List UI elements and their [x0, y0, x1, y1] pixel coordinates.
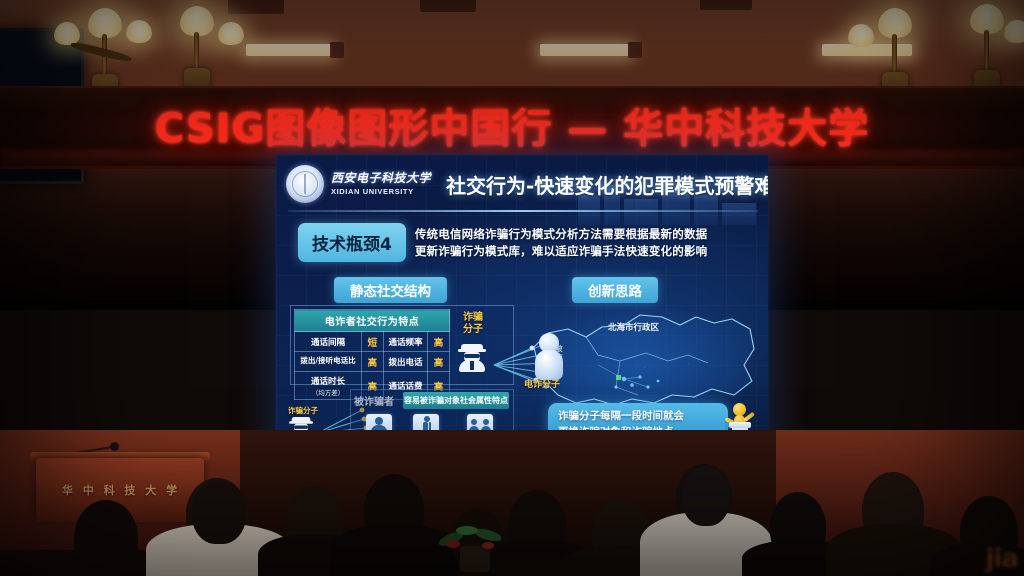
- xidian-university-logo-icon: [286, 165, 324, 203]
- map-region-label: 北海市行政区: [608, 321, 659, 333]
- lectern-engraving: 华 中 科 技 大 学: [46, 482, 196, 498]
- cell-subtext: （均方差）: [298, 387, 358, 397]
- table-row: 通话间隔 短 通话频率 高: [295, 332, 450, 352]
- table-row: 拨出/接听电话比 高 拨出电话 高: [295, 352, 450, 372]
- map-actor-label: 电诈分子: [524, 377, 560, 390]
- bottleneck-line-2: 更新诈骗行为模式库，难以适应诈骗手法快速变化的影响: [415, 243, 708, 260]
- fraud-actor-figure: [532, 333, 566, 381]
- section-tag-innovation: 创新思路: [572, 277, 658, 303]
- video-watermark: jia: [986, 544, 1018, 574]
- cell-key: 通话频率: [383, 332, 427, 352]
- section-tag-static-structure: 静态社交结构: [334, 277, 447, 303]
- cell-value: 短: [361, 332, 383, 352]
- victim-attribute-header: 容易被诈骗对象社会属性特点: [403, 392, 509, 409]
- cell-key: 拨出电话: [383, 352, 427, 372]
- audience-head: [192, 480, 246, 544]
- cell-key: 拨出/接听电话比: [295, 352, 362, 372]
- org-name-en: XIDIAN UNIVERSITY: [331, 187, 431, 196]
- fraudster-label-secondary: 诈骗分子: [288, 405, 318, 416]
- slide-title: 社交行为-快速变化的犯罪模式预警难: [446, 170, 768, 199]
- header-divider: [288, 210, 758, 212]
- bottleneck-row: 技术瓶颈4 传统电信网络诈骗行为模式分析方法需要根据最新的数据 更新诈骗行为模式…: [298, 223, 756, 262]
- ceiling-light: [540, 44, 630, 56]
- presentation-room-photo: CSIG图像图形中国行 — 华中科技大学 西安电子科技大学 XIDIAN UNI…: [0, 0, 1024, 576]
- cell-key: 通话间隔: [295, 332, 362, 352]
- audience-head: [682, 466, 730, 526]
- cell-value: 高: [361, 352, 383, 372]
- org-name-cn: 西安电子科技大学: [331, 172, 431, 185]
- cell-value: 高: [428, 332, 450, 352]
- fraudster-label: 诈骗分子: [459, 312, 487, 335]
- bottleneck-description: 传统电信网络诈骗行为模式分析方法需要根据最新的数据 更新诈骗行为模式库，难以适应…: [415, 226, 708, 259]
- bubble-line-1: 诈骗分子每隔一段时间就会: [558, 409, 718, 425]
- stage-plant: [430, 528, 520, 576]
- xidian-university-name: 西安电子科技大学 XIDIAN UNIVERSITY: [331, 172, 431, 195]
- fraudster-icon: [459, 344, 485, 372]
- slide-header: 西安电子科技大学 XIDIAN UNIVERSITY 社交行为-快速变化的犯罪模…: [286, 161, 760, 207]
- bottleneck-line-1: 传统电信网络诈骗行为模式分析方法需要根据最新的数据: [415, 226, 708, 243]
- table-header: 电诈者社交行为特点: [295, 310, 450, 332]
- fraudster-behavior-panel: 电诈者社交行为特点 通话间隔 短 通话频率 高 拨出/接听电话比 高 拨出电话 …: [290, 305, 514, 385]
- bottleneck-pill: 技术瓶颈4: [298, 223, 406, 262]
- cell-value: 高: [428, 352, 450, 372]
- fraudster-behavior-table: 电诈者社交行为特点 通话间隔 短 通话频率 高 拨出/接听电话比 高 拨出电话 …: [294, 309, 450, 400]
